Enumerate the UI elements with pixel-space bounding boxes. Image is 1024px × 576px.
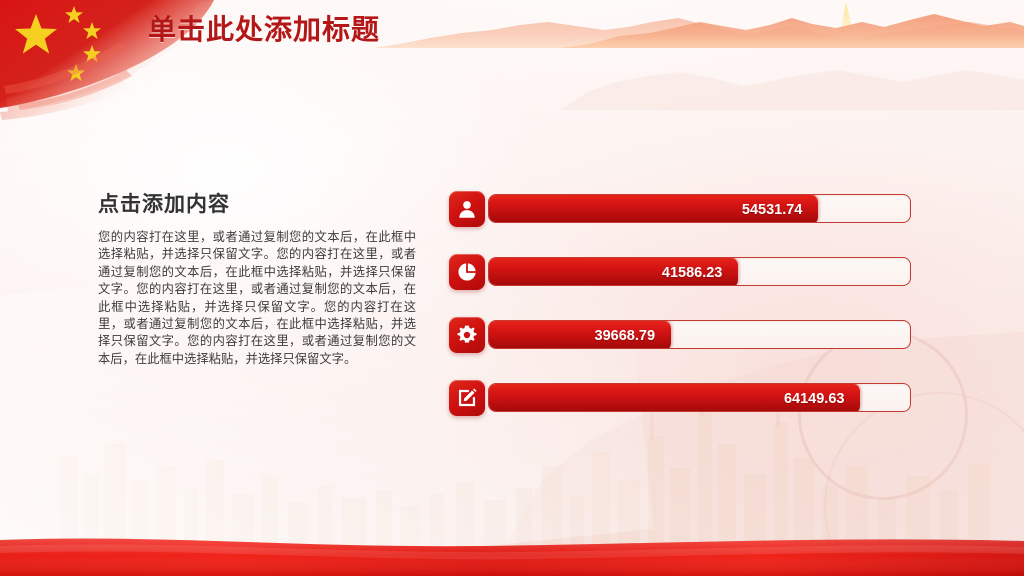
- progress-track[interactable]: 41586.23: [488, 257, 911, 286]
- left-content-panel: 点击添加内容 您的内容打在这里，或者通过复制您的文本后，在此框中选择粘贴，并选择…: [98, 188, 416, 368]
- progress-fill: 41586.23: [488, 257, 738, 286]
- slide-canvas: 单击此处添加标题 点击添加内容 您的内容打在这里，或者通过复制您的文本后，在此框…: [0, 0, 1024, 576]
- bottom-red-ribbon: [0, 532, 1024, 576]
- user-icon: [449, 191, 485, 227]
- bar-value: 64149.63: [784, 391, 860, 407]
- page-title: 单击此处添加标题: [148, 8, 380, 48]
- bar-value: 41586.23: [662, 265, 738, 281]
- content-body-text: 您的内容打在这里，或者通过复制您的文本后，在此框中选择粘贴，并选择只保留文字。您…: [98, 229, 416, 368]
- bar-row[interactable]: 41586.23: [449, 251, 911, 292]
- edit-icon: [449, 380, 485, 416]
- progress-bar-list: 54531.74 41586.23: [449, 188, 911, 418]
- bar-row[interactable]: 64149.63: [449, 377, 911, 418]
- pie-chart-icon: [449, 254, 485, 290]
- progress-fill: 64149.63: [488, 383, 860, 412]
- content-heading: 点击添加内容: [98, 188, 416, 218]
- bar-row[interactable]: 54531.74: [449, 188, 911, 229]
- progress-track[interactable]: 54531.74: [488, 194, 911, 223]
- bar-value: 54531.74: [742, 202, 818, 218]
- progress-fill: 39668.79: [488, 320, 671, 349]
- bar-value: 39668.79: [595, 328, 671, 344]
- progress-track[interactable]: 39668.79: [488, 320, 911, 349]
- gear-icon: [449, 317, 485, 353]
- progress-track[interactable]: 64149.63: [488, 383, 911, 412]
- bar-row[interactable]: 39668.79: [449, 314, 911, 355]
- progress-fill: 54531.74: [488, 194, 818, 223]
